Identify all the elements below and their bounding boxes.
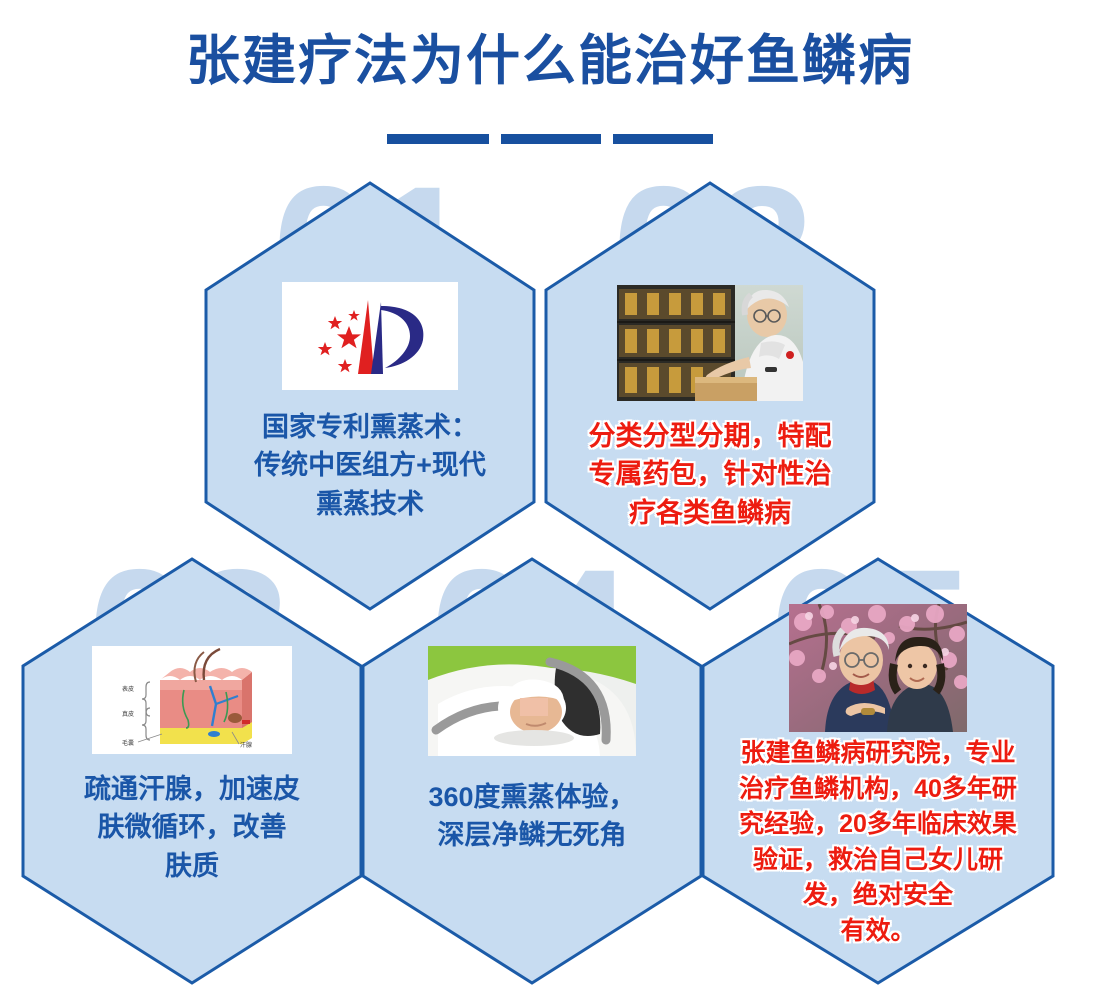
card-01-line-1: 国家专利熏蒸术： bbox=[216, 408, 523, 446]
card-02-caption: 分类分型分期，特配 专属药包，针对性治 疗各类鱼鳞病 bbox=[556, 417, 863, 532]
card-05-line-1: 张建鱼鳞病研究院，专业 bbox=[714, 736, 1042, 772]
divider-dash-1 bbox=[387, 134, 489, 144]
card-05-line-4: 验证，救治自己女儿研 bbox=[714, 843, 1042, 879]
card-05-line-3: 究经验，20多年临床效果 bbox=[714, 807, 1042, 843]
founder-photo-art bbox=[789, 604, 967, 732]
herb-cabinet-photo-art bbox=[617, 285, 803, 401]
svg-text:汗腺: 汗腺 bbox=[240, 741, 252, 749]
card-05-line-6: 有效。 bbox=[714, 914, 1042, 950]
card-05-line-5: 发，绝对安全 bbox=[714, 878, 1042, 914]
card-04-content: 360度熏蒸体验， 深层净鳞无死角 bbox=[360, 556, 704, 986]
card-02-line-1: 分类分型分期，特配 bbox=[556, 417, 863, 455]
card-02-line-3: 疗各类鱼鳞病 bbox=[556, 494, 863, 532]
card-03-line-2: 肤微循环，改善 bbox=[34, 808, 350, 846]
founder-and-daughter-photo bbox=[789, 604, 967, 732]
card-04-caption: 360度熏蒸体验， 深层净鳞无死角 bbox=[374, 778, 690, 855]
fumigation-photo-art bbox=[428, 646, 636, 756]
card-02-content: 分类分型分期，特配 专属药包，针对性治 疗各类鱼鳞病 bbox=[543, 180, 877, 612]
divider-dash-2 bbox=[501, 134, 601, 144]
tcm-doctor-herb-cabinet-photo bbox=[617, 285, 803, 401]
card-01-line-2: 传统中医组方+现代 bbox=[216, 446, 523, 484]
card-04-line-2: 深层净鳞无死角 bbox=[374, 816, 690, 854]
card-05-line-2: 治疗鱼鳞机构，40多年研 bbox=[714, 772, 1042, 808]
title-divider bbox=[0, 134, 1100, 144]
card-05-content: 张建鱼鳞病研究院，专业 治疗鱼鳞机构，40多年研 究经验，20多年临床效果 验证… bbox=[700, 556, 1056, 986]
card-04-line-1: 360度熏蒸体验， bbox=[374, 778, 690, 816]
card-03-content: 表皮 真皮 毛囊 汗腺 疏通汗腺，加速皮 肤微循环，改善 肤质 bbox=[20, 556, 364, 986]
card-01[interactable]: 国家专利熏蒸术： 传统中医组方+现代 熏蒸技术 bbox=[203, 180, 537, 612]
card-04[interactable]: 360度熏蒸体验， 深层净鳞无死角 bbox=[360, 556, 704, 986]
card-03-line-3: 肤质 bbox=[34, 847, 350, 885]
page-title: 张建疗法为什么能治好鱼鳞病 bbox=[0, 32, 1100, 91]
svg-text:真皮: 真皮 bbox=[122, 710, 134, 718]
poster-canvas: 张建疗法为什么能治好鱼鳞病 01 02 03 04 05 bbox=[0, 0, 1100, 1003]
card-03[interactable]: 表皮 真皮 毛囊 汗腺 疏通汗腺，加速皮 肤微循环，改善 肤质 bbox=[20, 556, 364, 986]
card-01-line-3: 熏蒸技术 bbox=[216, 485, 523, 523]
card-05[interactable]: 张建鱼鳞病研究院，专业 治疗鱼鳞机构，40多年研 究经验，20多年临床效果 验证… bbox=[700, 556, 1056, 986]
national-patent-logo bbox=[282, 282, 458, 390]
card-01-content: 国家专利熏蒸术： 传统中医组方+现代 熏蒸技术 bbox=[203, 180, 537, 612]
card-03-caption: 疏通汗腺，加速皮 肤微循环，改善 肤质 bbox=[34, 770, 350, 885]
skin-diagram-art: 表皮 真皮 毛囊 汗腺 bbox=[92, 646, 292, 754]
card-02[interactable]: 分类分型分期，特配 专属药包，针对性治 疗各类鱼鳞病 bbox=[543, 180, 877, 612]
skin-cross-section-diagram: 表皮 真皮 毛囊 汗腺 bbox=[92, 646, 292, 754]
patent-logo-icon bbox=[282, 282, 458, 390]
card-02-line-2: 专属药包，针对性治 bbox=[556, 455, 863, 493]
svg-text:表皮: 表皮 bbox=[122, 685, 134, 693]
card-03-line-1: 疏通汗腺，加速皮 bbox=[34, 770, 350, 808]
card-01-caption: 国家专利熏蒸术： 传统中医组方+现代 熏蒸技术 bbox=[216, 408, 523, 523]
card-05-caption: 张建鱼鳞病研究院，专业 治疗鱼鳞机构，40多年研 究经验，20多年临床效果 验证… bbox=[714, 736, 1042, 949]
divider-dash-3 bbox=[613, 134, 713, 144]
fumigation-treatment-photo bbox=[428, 646, 636, 756]
svg-text:毛囊: 毛囊 bbox=[122, 739, 134, 747]
